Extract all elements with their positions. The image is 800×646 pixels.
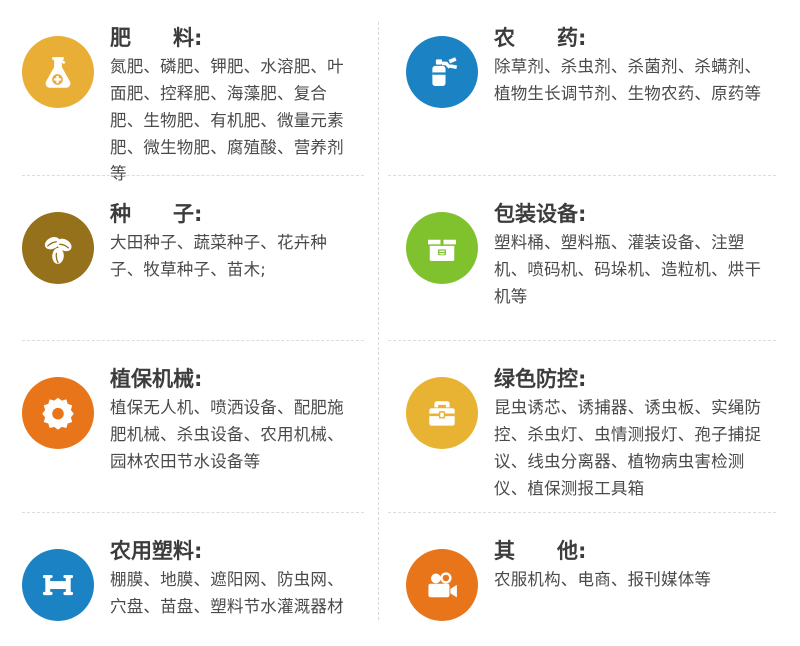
- category-text-block: 绿色防控: 昆虫诱芯、诱捕器、诱虫板、实绳防控、杀虫灯、虫情测报灯、孢子捕捉议、…: [494, 363, 770, 502]
- category-title: 农用塑料:: [110, 537, 348, 565]
- category-description: 植保无人机、喷洒设备、配肥施肥机械、杀虫设备、农用机械、园林农田节水设备等: [110, 395, 348, 475]
- category-description: 昆虫诱芯、诱捕器、诱虫板、实绳防控、杀虫灯、虫情测报灯、孢子捕捉议、线虫分离器、…: [494, 395, 770, 502]
- category-card-plant-protection-machinery[interactable]: 植保机械: 植保无人机、喷洒设备、配肥施肥机械、杀虫设备、农用机械、园林农田节水…: [0, 341, 378, 513]
- category-board: 肥料: 氮肥、磷肥、钾肥、水溶肥、叶面肥、控释肥、海藻肥、复合肥、生物肥、有机肥…: [0, 0, 800, 646]
- category-card-pesticide[interactable]: 农药: 除草剂、杀虫剂、杀菌剂、杀螨剂、植物生长调节剂、生物农药、原药等: [378, 0, 800, 176]
- category-title: 种子:: [110, 200, 348, 228]
- video-camera-icon: [406, 549, 478, 621]
- category-title: 其他:: [494, 537, 770, 565]
- category-title: 农药:: [494, 24, 770, 52]
- toolbox-icon: [406, 377, 478, 449]
- film-roll-icon: [22, 549, 94, 621]
- category-description: 氮肥、磷肥、钾肥、水溶肥、叶面肥、控释肥、海藻肥、复合肥、生物肥、有机肥、微量元…: [110, 54, 348, 188]
- category-card-seed[interactable]: 种子: 大田种子、蔬菜种子、花卉种子、牧草种子、苗木;: [0, 176, 378, 341]
- category-card-agricultural-plastics[interactable]: 农用塑料: 棚膜、地膜、遮阳网、防虫网、穴盘、苗盘、塑料节水灌溉器材: [0, 513, 378, 646]
- category-text-block: 其他: 农服机构、电商、报刊媒体等: [494, 535, 770, 594]
- flask-icon: [22, 36, 94, 108]
- category-description: 塑料桶、塑料瓶、灌装设备、注塑机、喷码机、码垛机、造粒机、烘干机等: [494, 230, 770, 310]
- spray-bottle-icon: [406, 36, 478, 108]
- category-description: 除草剂、杀虫剂、杀菌剂、杀螨剂、植物生长调节剂、生物农药、原药等: [494, 54, 770, 107]
- category-description: 棚膜、地膜、遮阳网、防虫网、穴盘、苗盘、塑料节水灌溉器材: [110, 567, 348, 620]
- category-description: 农服机构、电商、报刊媒体等: [494, 567, 770, 594]
- category-card-other[interactable]: 其他: 农服机构、电商、报刊媒体等: [378, 513, 800, 646]
- category-title: 肥料:: [110, 24, 348, 52]
- category-text-block: 肥料: 氮肥、磷肥、钾肥、水溶肥、叶面肥、控释肥、海藻肥、复合肥、生物肥、有机肥…: [110, 22, 348, 188]
- category-card-green-pest-control[interactable]: 绿色防控: 昆虫诱芯、诱捕器、诱虫板、实绳防控、杀虫灯、虫情测报灯、孢子捕捉议、…: [378, 341, 800, 513]
- gear-icon: [22, 377, 94, 449]
- category-title: 绿色防控:: [494, 365, 770, 393]
- seeds-icon: [22, 212, 94, 284]
- category-title: 包装设备:: [494, 200, 770, 228]
- category-title: 植保机械:: [110, 365, 348, 393]
- category-text-block: 农药: 除草剂、杀虫剂、杀菌剂、杀螨剂、植物生长调节剂、生物农药、原药等: [494, 22, 770, 108]
- category-description: 大田种子、蔬菜种子、花卉种子、牧草种子、苗木;: [110, 230, 348, 283]
- category-text-block: 农用塑料: 棚膜、地膜、遮阳网、防虫网、穴盘、苗盘、塑料节水灌溉器材: [110, 535, 348, 621]
- category-text-block: 植保机械: 植保无人机、喷洒设备、配肥施肥机械、杀虫设备、农用机械、园林农田节水…: [110, 363, 348, 476]
- category-text-block: 包装设备: 塑料桶、塑料瓶、灌装设备、注塑机、喷码机、码垛机、造粒机、烘干机等: [494, 198, 770, 311]
- box-icon: [406, 212, 478, 284]
- category-card-packaging-equipment[interactable]: 包装设备: 塑料桶、塑料瓶、灌装设备、注塑机、喷码机、码垛机、造粒机、烘干机等: [378, 176, 800, 341]
- category-text-block: 种子: 大田种子、蔬菜种子、花卉种子、牧草种子、苗木;: [110, 198, 348, 284]
- category-card-fertilizer[interactable]: 肥料: 氮肥、磷肥、钾肥、水溶肥、叶面肥、控释肥、海藻肥、复合肥、生物肥、有机肥…: [0, 0, 378, 176]
- category-grid: 肥料: 氮肥、磷肥、钾肥、水溶肥、叶面肥、控释肥、海藻肥、复合肥、生物肥、有机肥…: [0, 0, 800, 646]
